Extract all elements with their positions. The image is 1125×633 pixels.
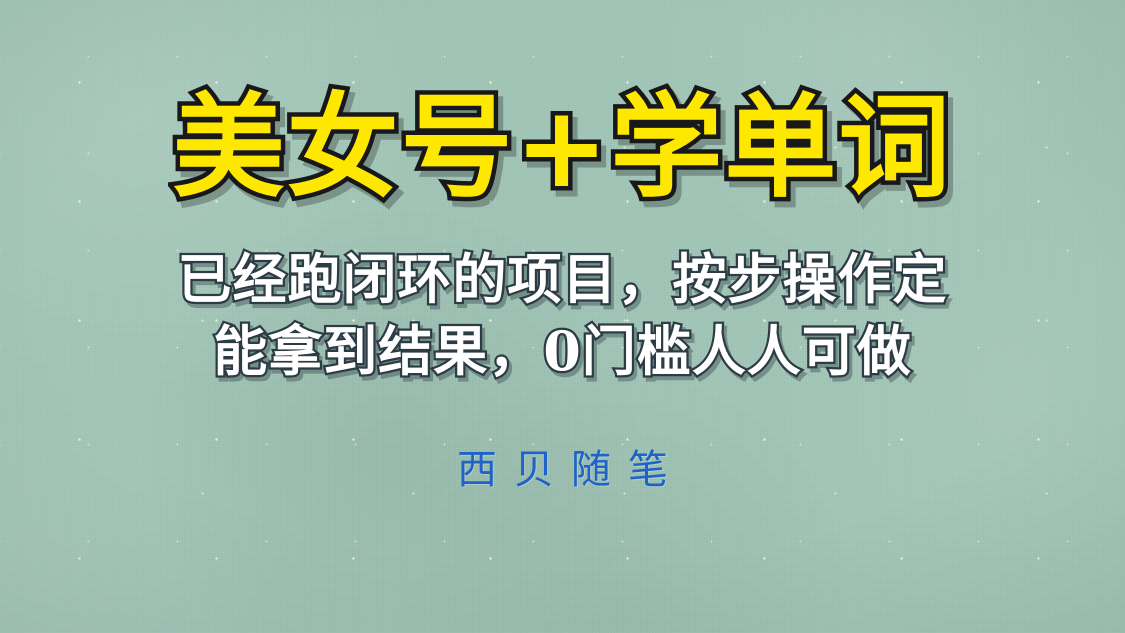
- subtitle-line-2: 能拿到结果，0门槛人人可做: [178, 316, 948, 388]
- poster-subtitle: 已经跑闭环的项目，按步操作定 能拿到结果，0门槛人人可做: [178, 244, 948, 388]
- poster-content: 美女号+学单词 已经跑闭环的项目，按步操作定 能拿到结果，0门槛人人可做 西贝随…: [0, 0, 1125, 633]
- subtitle-line-1: 已经跑闭环的项目，按步操作定: [178, 244, 948, 316]
- author-signature: 西贝随笔: [440, 450, 685, 490]
- poster-canvas: 美女号+学单词 已经跑闭环的项目，按步操作定 能拿到结果，0门槛人人可做 西贝随…: [0, 0, 1125, 633]
- poster-title: 美女号+学单词: [173, 92, 953, 204]
